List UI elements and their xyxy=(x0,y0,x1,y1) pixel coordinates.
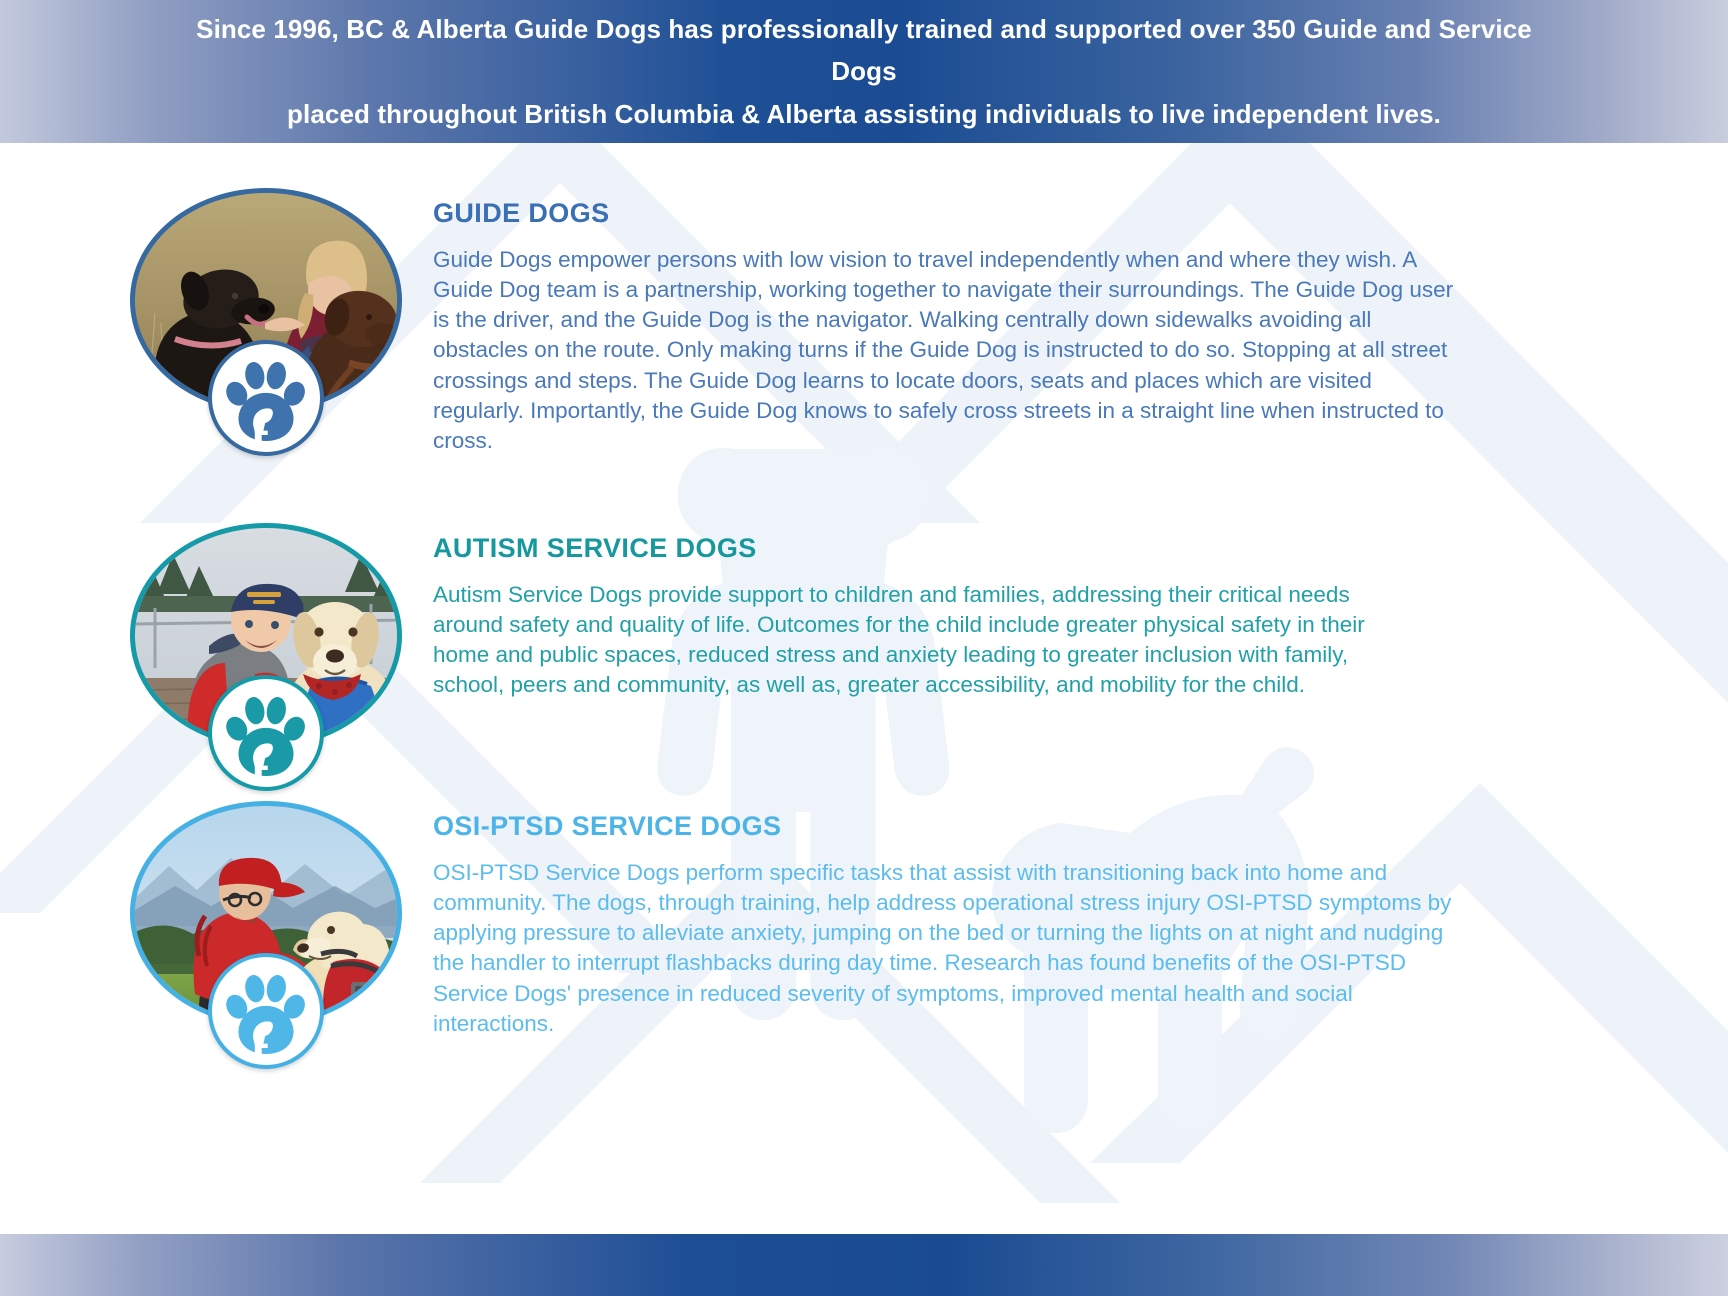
paw-print-icon xyxy=(223,690,309,776)
text-col-osi-ptsd: OSI-PTSD SERVICE DOGS OSI-PTSD Service D… xyxy=(433,801,1463,1039)
section-autism-service-dogs: AUTISM SERVICE DOGS Autism Service Dogs … xyxy=(0,523,1393,748)
bottom-banner xyxy=(0,1234,1728,1296)
section-body-guide-dogs: Guide Dogs empower persons with low visi… xyxy=(433,245,1463,456)
section-guide-dogs: GUIDE DOGS Guide Dogs empower persons wi… xyxy=(0,188,1463,456)
section-title-osi-ptsd: OSI-PTSD SERVICE DOGS xyxy=(433,811,1463,842)
section-body-osi-ptsd: OSI-PTSD Service Dogs perform specific t… xyxy=(433,858,1463,1039)
section-body-autism: Autism Service Dogs provide support to c… xyxy=(433,580,1393,701)
section-title-guide-dogs: GUIDE DOGS xyxy=(433,198,1463,229)
paw-print-icon xyxy=(223,355,309,441)
top-banner-text: Since 1996, BC & Alberta Guide Dogs has … xyxy=(164,8,1564,134)
paw-badge-guide-dogs xyxy=(208,340,324,456)
paw-badge-osi-ptsd xyxy=(208,953,324,1069)
text-col-guide-dogs: GUIDE DOGS Guide Dogs empower persons wi… xyxy=(433,188,1463,456)
photo-wrap-guide-dogs xyxy=(130,188,402,413)
text-col-autism: AUTISM SERVICE DOGS Autism Service Dogs … xyxy=(433,523,1393,701)
top-banner-line-2: placed throughout British Columbia & Alb… xyxy=(164,93,1564,135)
photo-wrap-osi-ptsd xyxy=(130,801,402,1026)
top-banner-line-1: Since 1996, BC & Alberta Guide Dogs has … xyxy=(196,14,1532,86)
section-title-autism: AUTISM SERVICE DOGS xyxy=(433,533,1393,564)
main-content: GUIDE DOGS Guide Dogs empower persons wi… xyxy=(0,143,1728,1234)
section-osi-ptsd-service-dogs: OSI-PTSD SERVICE DOGS OSI-PTSD Service D… xyxy=(0,801,1463,1039)
paw-badge-autism xyxy=(208,675,324,791)
photo-wrap-autism xyxy=(130,523,402,748)
paw-print-icon xyxy=(223,968,309,1054)
top-banner: Since 1996, BC & Alberta Guide Dogs has … xyxy=(0,0,1728,143)
